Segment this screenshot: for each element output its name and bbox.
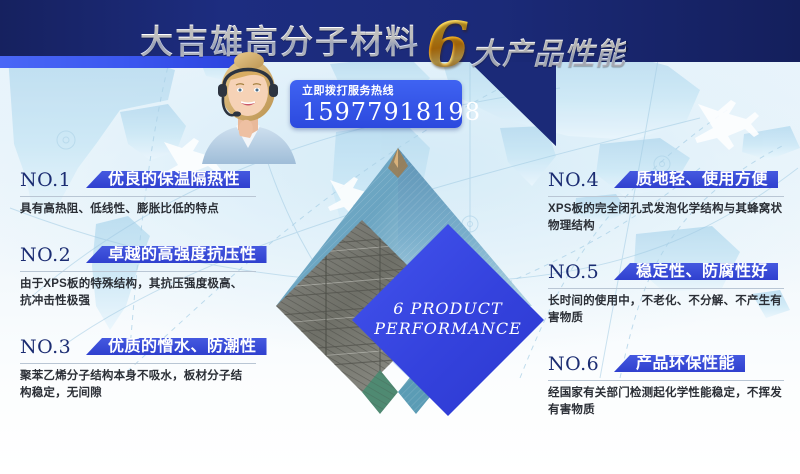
feature-6-number: NO.6 (548, 349, 599, 379)
feature-2-head: NO.2 卓越的高强度抗压性 (20, 240, 270, 270)
feature-item-1: NO.1 优良的保温隔热性 具有高热阻、低线性、膨胀比低的特点 (20, 165, 270, 218)
feature-3-tag: 优质的憎水、防潮性 (86, 338, 267, 355)
hotline-number: 15977918198 (302, 99, 462, 125)
feature-5-number: NO.5 (548, 257, 599, 287)
badge-line-2: PERFORMANCE (373, 319, 522, 338)
feature-5-desc: 长时间的使用中，不老化、不分解、不产生有害物质 (548, 293, 786, 327)
feature-1-head: NO.1 优良的保温隔热性 (20, 165, 270, 195)
center-diamond-graphic: 6 PRODUCT PERFORMANCE (262, 138, 547, 423)
feature-1-tag: 优良的保温隔热性 (86, 171, 250, 188)
feature-3-number: NO.3 (20, 332, 71, 362)
promo-banner-page: 大吉雄高分子材料 6 大产品性能 (0, 0, 800, 474)
big-six-number: 6 (426, 17, 469, 73)
feature-2-tag: 卓越的高强度抗压性 (86, 246, 267, 263)
feature-column-right: NO.4 质地轻、使用方便 XPS板的完全闭孔式发泡化学结构与其蜂窝状物理结构 … (548, 165, 798, 441)
badge-line-1: 6 PRODUCT (393, 299, 503, 318)
feature-6-desc: 经国家有关部门检测起化学性能稳定，不挥发有害物质 (548, 385, 786, 419)
feature-item-3: NO.3 优质的憎水、防潮性 聚苯乙烯分子结构本身不吸水，板材分子结构稳定，无间… (20, 332, 270, 402)
feature-1-desc: 具有高热阻、低线性、膨胀比低的特点 (20, 201, 252, 218)
feature-2-desc: 由于XPS板的特殊结构，其抗压强度极高、抗冲击性极强 (20, 276, 252, 310)
feature-3-desc: 聚苯乙烯分子结构本身不吸水，板材分子结构稳定，无间隙 (20, 368, 252, 402)
feature-2-tagwrap: 卓越的高强度抗压性 (86, 240, 267, 270)
feature-1-rule (20, 196, 256, 197)
feature-1-tagwrap: 优良的保温隔热性 (86, 165, 250, 195)
feature-5-head: NO.5 稳定性、防腐性好 (548, 257, 798, 287)
feature-1-number: NO.1 (20, 165, 71, 195)
feature-item-2: NO.2 卓越的高强度抗压性 由于XPS板的特殊结构，其抗压强度极高、抗冲击性极… (20, 240, 270, 310)
feature-4-head: NO.4 质地轻、使用方便 (548, 165, 798, 195)
feature-2-rule (20, 271, 256, 272)
brand-subtitle: 大产品性能 (471, 29, 626, 73)
feature-item-6: NO.6 产品环保性能 经国家有关部门检测起化学性能稳定，不挥发有害物质 (548, 349, 798, 419)
feature-column-left: NO.1 优良的保温隔热性 具有高热阻、低线性、膨胀比低的特点 NO.2 卓越的… (20, 165, 270, 424)
hotline-label: 立即拨打服务热线 (302, 83, 462, 99)
feature-4-tag: 质地轻、使用方便 (614, 171, 778, 188)
feature-2-number: NO.2 (20, 240, 71, 270)
feature-6-tag: 产品环保性能 (614, 355, 745, 372)
feature-4-desc: XPS板的完全闭孔式发泡化学结构与其蜂窝状物理结构 (548, 201, 786, 235)
feature-3-tagwrap: 优质的憎水、防潮性 (86, 332, 267, 362)
feature-4-number: NO.4 (548, 165, 599, 195)
feature-5-tagwrap: 稳定性、防腐性好 (614, 257, 778, 287)
feature-5-tag: 稳定性、防腐性好 (614, 263, 778, 280)
feature-3-rule (20, 363, 256, 364)
feature-6-head: NO.6 产品环保性能 (548, 349, 798, 379)
feature-item-5: NO.5 稳定性、防腐性好 长时间的使用中，不老化、不分解、不产生有害物质 (548, 257, 798, 327)
feature-4-rule (548, 196, 784, 197)
feature-3-head: NO.3 优质的憎水、防潮性 (20, 332, 270, 362)
feature-item-4: NO.4 质地轻、使用方便 XPS板的完全闭孔式发泡化学结构与其蜂窝状物理结构 (548, 165, 798, 235)
hotline-badge[interactable]: 立即拨打服务热线 15977918198 (290, 80, 462, 128)
feature-5-rule (548, 288, 784, 289)
feature-4-tagwrap: 质地轻、使用方便 (614, 165, 778, 195)
feature-6-tagwrap: 产品环保性能 (614, 349, 745, 379)
feature-6-rule (548, 380, 784, 381)
